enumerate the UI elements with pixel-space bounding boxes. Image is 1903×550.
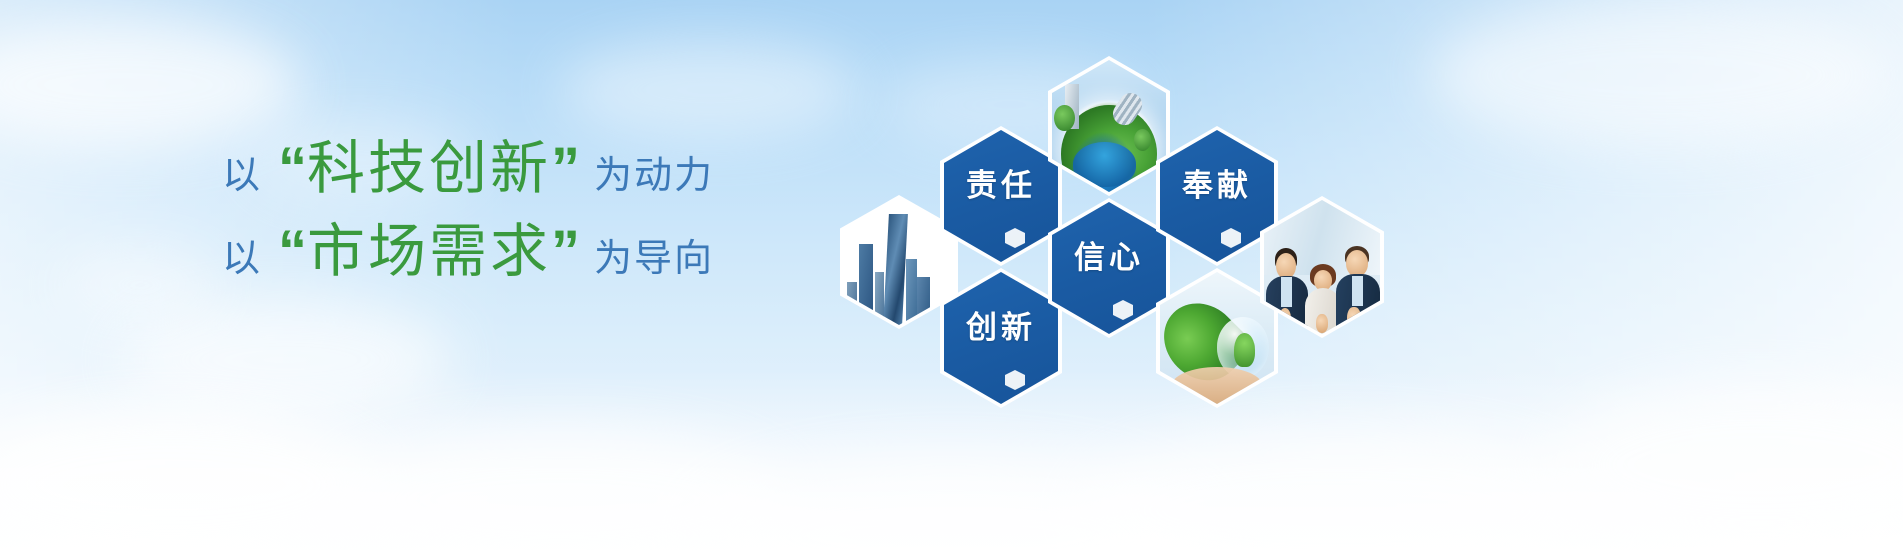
value-hex-label-innovation: 创新	[966, 302, 1036, 347]
slogan-line1-open-quote: “	[278, 140, 307, 198]
value-hex-label-responsibility: 责任	[966, 160, 1036, 205]
cloud-shape	[60, 250, 220, 320]
slogan-line2-open-quote: “	[278, 223, 307, 281]
team-member	[1336, 246, 1380, 334]
face-shape	[1346, 250, 1368, 277]
city-building	[906, 259, 917, 325]
slogan-line1-tail: 为动力	[594, 144, 714, 199]
city-building	[859, 244, 872, 325]
slogan-line1-emphasis: 科技创新	[307, 140, 551, 198]
value-hex-label-dedication: 奉献	[1182, 160, 1252, 205]
slogan-line2-emphasis: 市场需求	[307, 223, 551, 281]
slogan-line2-close-quote: ”	[551, 223, 580, 281]
globe-tree	[1054, 105, 1075, 131]
slogan-line2-lead: 以	[222, 227, 262, 282]
slogan-line1-lead: 以	[222, 144, 262, 199]
globe-tree	[1134, 129, 1151, 151]
shirt-shape	[1281, 277, 1292, 306]
hero-banner: 以 “ 科技创新 ” 为动力 以 “ 市场需求 ” 为导向 责任	[0, 0, 1903, 550]
sapling-shape	[1234, 333, 1255, 367]
hexagon-cluster: 责任 创新 信心 奉献	[800, 40, 1420, 440]
thumbs-up-shape	[1316, 314, 1328, 332]
cloud-shape	[1430, 0, 1890, 150]
shirt-shape	[1352, 276, 1363, 306]
slogan-line2-tail: 为导向	[594, 227, 714, 282]
city-building	[883, 214, 907, 325]
value-hex-label-confidence: 信心	[1074, 232, 1144, 277]
slogan-line1-close-quote: ”	[551, 140, 580, 198]
